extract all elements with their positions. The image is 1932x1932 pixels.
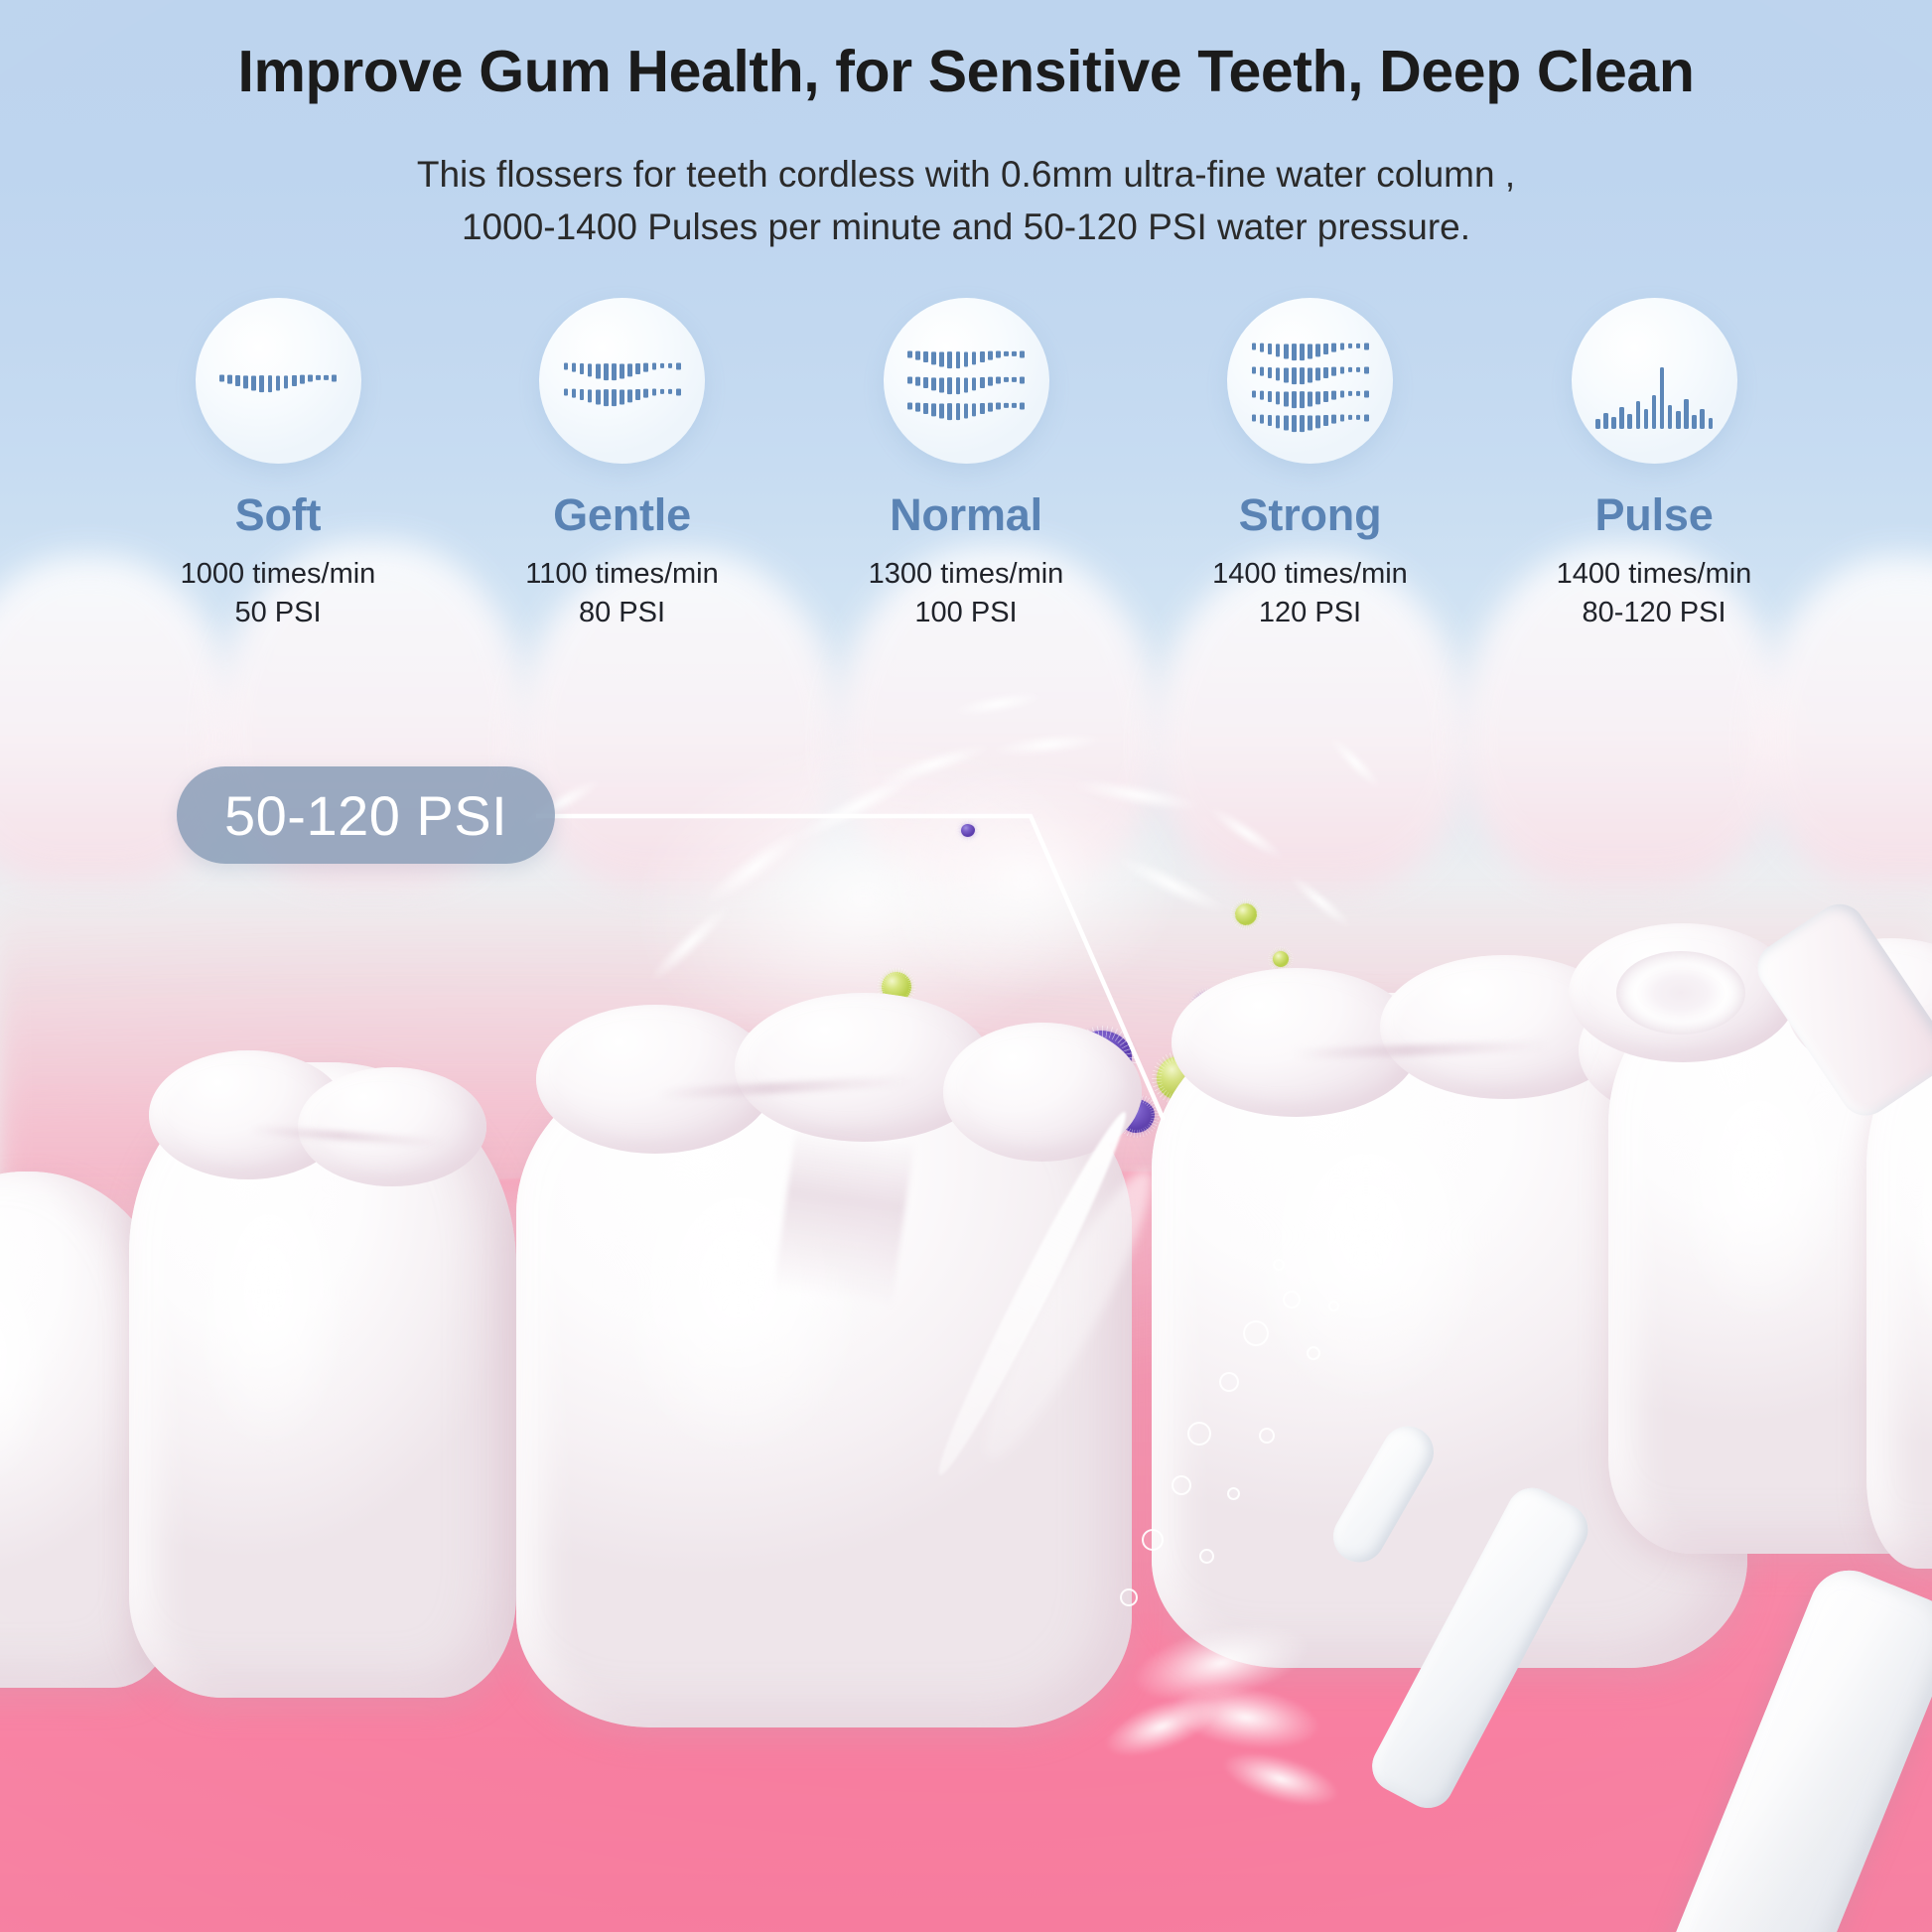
mode-psi: 50 PSI bbox=[234, 594, 321, 632]
subtitle-line-2: 1000-1400 Pulses per minute and 50-120 P… bbox=[0, 202, 1932, 254]
mode-item-soft[interactable]: Soft 1000 times/min 50 PSI bbox=[114, 298, 442, 632]
wave-row bbox=[1252, 340, 1369, 359]
mode-rate: 1000 times/min bbox=[181, 555, 376, 594]
wave-row bbox=[907, 347, 1025, 367]
mode-icon-circle-soft[interactable] bbox=[196, 298, 361, 464]
wave-3-row-icon bbox=[907, 334, 1025, 429]
wave-row bbox=[907, 399, 1025, 419]
mode-label: Strong bbox=[1239, 489, 1382, 541]
mode-psi: 80-120 PSI bbox=[1582, 594, 1725, 632]
mode-icon-circle-pulse[interactable] bbox=[1572, 298, 1737, 464]
mode-psi: 120 PSI bbox=[1259, 594, 1361, 632]
pressure-modes-row: Soft 1000 times/min 50 PSI Gentle 1100 t… bbox=[114, 298, 1818, 632]
wave-row bbox=[564, 385, 681, 405]
infographic-canvas: Improve Gum Health, for Sensitive Teeth,… bbox=[0, 0, 1932, 1932]
mode-label: Pulse bbox=[1594, 489, 1713, 541]
mode-rate: 1400 times/min bbox=[1557, 555, 1752, 594]
mode-label: Normal bbox=[890, 489, 1042, 541]
mode-rate: 1300 times/min bbox=[869, 555, 1064, 594]
wave-row bbox=[564, 359, 681, 379]
wave-2-row-icon bbox=[564, 334, 681, 429]
mode-icon-circle-gentle[interactable] bbox=[539, 298, 705, 464]
mode-item-normal[interactable]: Normal 1300 times/min 100 PSI bbox=[802, 298, 1130, 632]
mode-icon-circle-strong[interactable] bbox=[1227, 298, 1393, 464]
equalizer-icon bbox=[1595, 334, 1713, 429]
wave-row bbox=[1252, 363, 1369, 383]
mode-label: Gentle bbox=[553, 489, 691, 541]
mode-label: Soft bbox=[235, 489, 322, 541]
equalizer-bars bbox=[1595, 345, 1713, 429]
mode-item-strong[interactable]: Strong 1400 times/min 120 PSI bbox=[1147, 298, 1474, 632]
mode-item-pulse[interactable]: Pulse 1400 times/min 80-120 PSI bbox=[1490, 298, 1818, 632]
mode-rate: 1100 times/min bbox=[525, 555, 719, 594]
wave-1-row-icon bbox=[219, 334, 337, 429]
vignette-overlay bbox=[0, 0, 1932, 1932]
subtitle-line-1: This flossers for teeth cordless with 0.… bbox=[0, 149, 1932, 202]
pressure-callout-badge: 50-120 PSI bbox=[177, 766, 555, 864]
page-title: Improve Gum Health, for Sensitive Teeth,… bbox=[0, 38, 1932, 105]
wave-row bbox=[907, 373, 1025, 393]
wave-row bbox=[219, 371, 337, 391]
mode-psi: 100 PSI bbox=[914, 594, 1017, 632]
mode-icon-circle-normal[interactable] bbox=[884, 298, 1049, 464]
mode-psi: 80 PSI bbox=[579, 594, 665, 632]
wave-row bbox=[1252, 411, 1369, 431]
mode-item-gentle[interactable]: Gentle 1100 times/min 80 PSI bbox=[459, 298, 786, 632]
wave-row bbox=[1252, 387, 1369, 407]
wave-4-row-icon bbox=[1252, 334, 1369, 429]
mode-rate: 1400 times/min bbox=[1212, 555, 1408, 594]
